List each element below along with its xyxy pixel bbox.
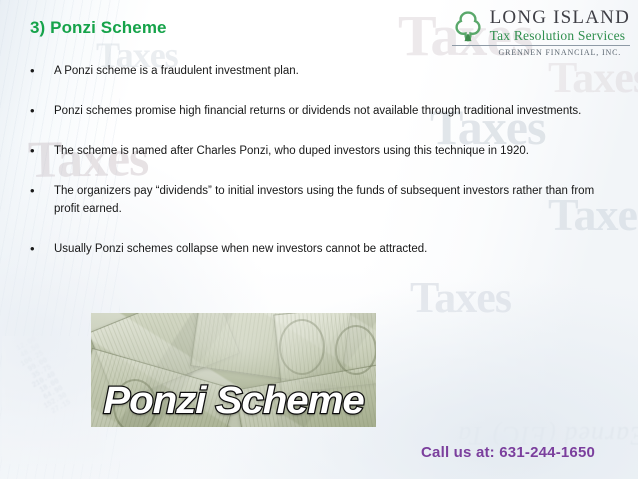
ponzi-scheme-image: Ponzi Scheme — [91, 313, 376, 427]
list-item-text: A Ponzi scheme is a fraudulent investmen… — [54, 62, 610, 80]
slide-canvas: Earned (EIC) Ta 12.00 48.50 106.25 99.00… — [0, 0, 638, 479]
bullet-list: • A Ponzi scheme is a fraudulent investm… — [30, 62, 610, 280]
image-caption: Ponzi Scheme — [91, 379, 376, 423]
company-logo: LONG ISLAND Tax Resolution Services GREN… — [451, 8, 630, 58]
tree-circle-icon — [451, 10, 485, 46]
logo-subsidiary: GRENNEN FINANCIAL, INC. — [490, 48, 630, 58]
bullet-marker: • — [30, 240, 54, 258]
logo-text-block: LONG ISLAND Tax Resolution Services GREN… — [490, 8, 630, 58]
list-item-text: The scheme is named after Charles Ponzi,… — [54, 142, 610, 160]
list-item-text: Ponzi schemes promise high financial ret… — [54, 102, 610, 120]
logo-tagline: Tax Resolution Services — [490, 28, 630, 43]
list-item-text: Usually Ponzi schemes collapse when new … — [54, 240, 610, 258]
list-item: • A Ponzi scheme is a fraudulent investm… — [30, 62, 610, 80]
logo-divider — [452, 45, 630, 46]
bullet-marker: • — [30, 62, 54, 80]
list-item-text: The organizers pay “dividends” to initia… — [54, 182, 610, 218]
bullet-marker: • — [30, 142, 54, 160]
logo-company-name: LONG ISLAND — [490, 8, 630, 27]
list-item: • Usually Ponzi schemes collapse when ne… — [30, 240, 610, 258]
page-title: 3) Ponzi Scheme — [30, 18, 167, 38]
bullet-marker: • — [30, 182, 54, 200]
list-item: • The scheme is named after Charles Ponz… — [30, 142, 610, 160]
list-item: • The organizers pay “dividends” to init… — [30, 182, 610, 218]
call-to-action-phone: Call us at: 631-244-1650 — [421, 444, 595, 461]
list-item: • Ponzi schemes promise high financial r… — [30, 102, 610, 120]
bullet-marker: • — [30, 102, 54, 120]
